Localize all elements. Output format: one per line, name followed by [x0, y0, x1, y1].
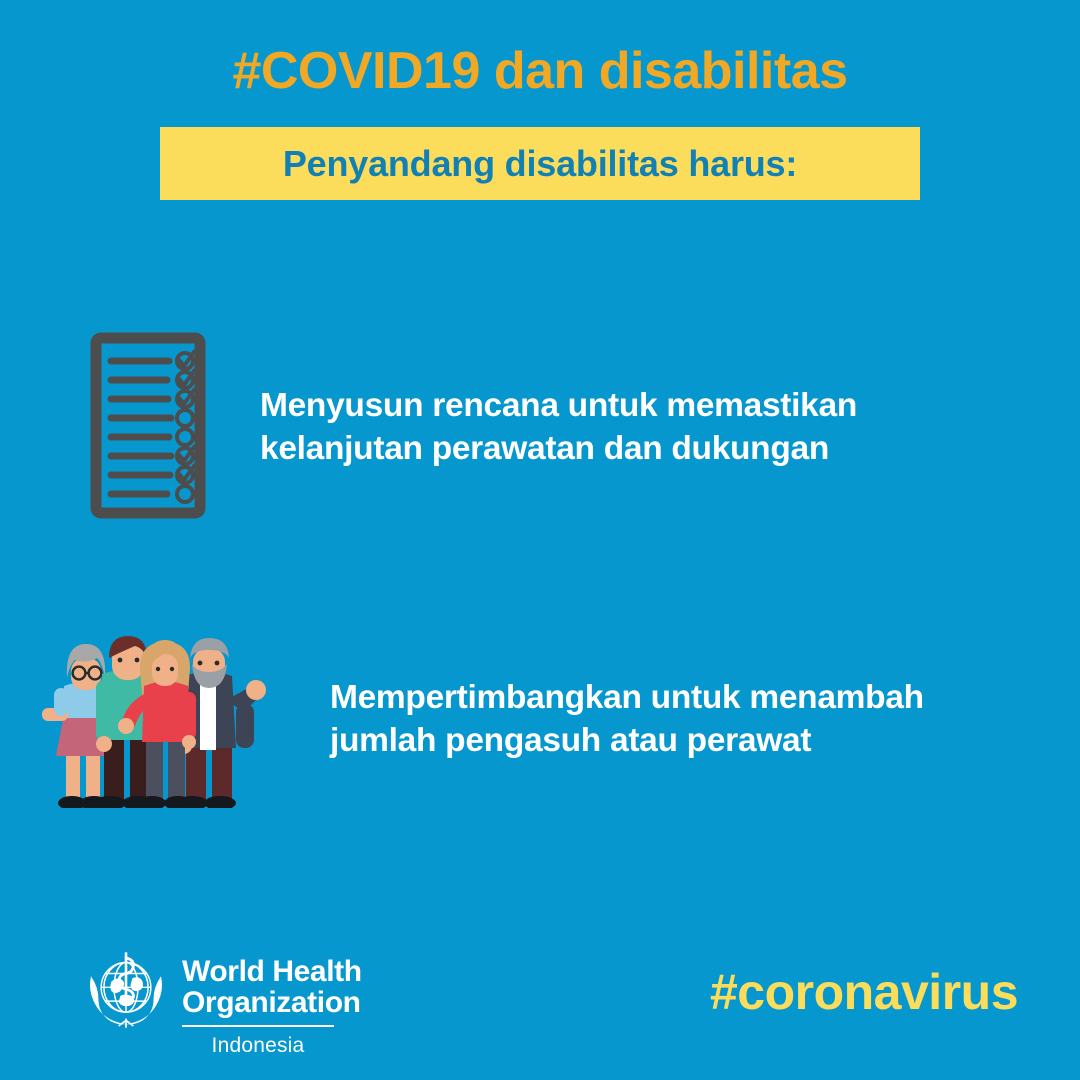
group-of-people-icon: [40, 628, 268, 813]
subtitle-banner: Penyandang disabilitas harus:: [160, 127, 920, 200]
message-row-1-line-1: Menyusun rencana untuk memastikan: [260, 385, 857, 428]
who-name-line-1: World Health: [182, 957, 362, 988]
who-wordmark: World Health Organization Indonesia: [182, 945, 362, 1058]
who-country-label: Indonesia: [182, 1034, 334, 1058]
message-row-1-line-2: kelanjutan perawatan dan dukungan: [260, 428, 857, 471]
subtitle-banner-label: Penyandang disabilitas harus:: [160, 127, 920, 200]
message-row-2-text: Mempertimbangkan untuk menambah jumlah p…: [330, 677, 924, 763]
message-row-1: Menyusun rencana untuk memastikan kelanj…: [70, 330, 1030, 525]
poster-canvas: #COVID19 dan disabilitas Penyandang disa…: [0, 0, 1080, 1080]
message-row-2: Mempertimbangkan untuk menambah jumlah p…: [40, 630, 1030, 810]
message-row-2-line-1: Mempertimbangkan untuk menambah: [330, 677, 924, 720]
who-logo: World Health Organization Indonesia: [80, 945, 362, 1058]
message-row-2-line-2: jumlah pengasuh atau perawat: [330, 720, 924, 763]
who-name-line-2: Organization: [182, 988, 362, 1019]
clipboard-checklist-icon: [70, 328, 226, 528]
hashtag-coronavirus: #coronavirus: [710, 963, 1018, 1021]
who-emblem-icon: [80, 945, 172, 1042]
message-row-1-text: Menyusun rencana untuk memastikan kelanj…: [260, 385, 857, 471]
who-divider: [182, 1025, 334, 1027]
page-title: #COVID19 dan disabilitas: [0, 44, 1080, 99]
